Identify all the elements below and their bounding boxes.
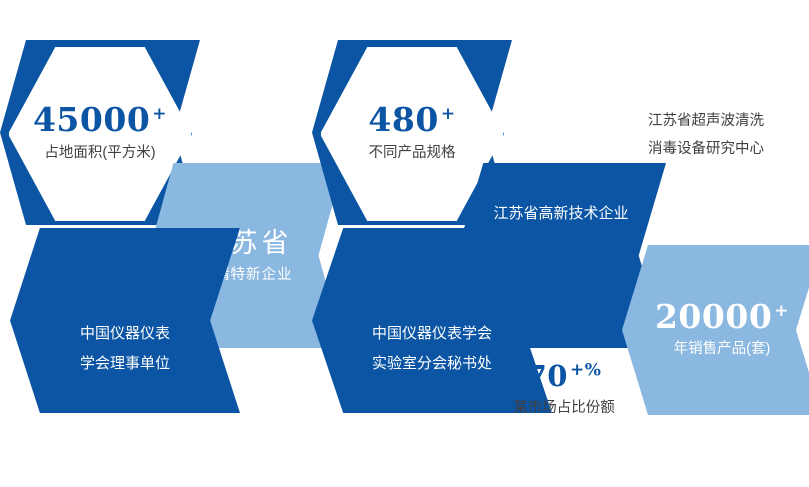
stat-value-annual-sales: 20000+ — [655, 300, 789, 333]
badge-lab-branch-line1: 中国仪器仪表学会 — [372, 319, 492, 349]
stat-caption-market-share: 某市场占比份额 — [494, 397, 634, 419]
stat-value-area: 45000+ — [33, 103, 167, 136]
badge-instrument-council[interactable]: 中国仪器仪表 学会理事单位 — [10, 228, 240, 413]
research-center-line2: 消毒设备研究中心 — [648, 136, 764, 164]
stat-card-annual-sales[interactable]: 20000+ 年销售产品(套) — [622, 245, 809, 415]
stat-unit-market-share: % — [585, 360, 602, 380]
stat-block-market-share: 70+% 某市场占比份额 — [494, 362, 634, 419]
stat-value-specs: 480+ — [368, 103, 455, 136]
stat-caption-specs: 不同产品规格 — [369, 142, 456, 164]
stat-suffix-specs: + — [441, 104, 456, 124]
badge-instrument-council-line1: 中国仪器仪表 — [80, 319, 170, 349]
badge-instrument-council-text: 中国仪器仪表 学会理事单位 — [80, 319, 170, 379]
stat-suffix-annual-sales: + — [774, 301, 789, 321]
stat-suffix-market-share: + — [570, 360, 585, 380]
stat-value-market-share: 70+% — [494, 362, 634, 391]
badge-lab-branch-text: 中国仪器仪表学会 实验室分会秘书处 — [372, 319, 492, 379]
stat-caption-area: 占地面积(平方米) — [44, 142, 155, 164]
badge-instrument-council-line2: 学会理事单位 — [80, 349, 170, 379]
badge-lab-branch-line2: 实验室分会秘书处 — [372, 349, 492, 379]
research-center-text: 江苏省超声波清洗 消毒设备研究中心 — [648, 108, 764, 163]
stat-caption-annual-sales: 年销售产品(套) — [674, 338, 771, 360]
badge-high-tech-label: 江苏省高新技术企业 — [493, 199, 628, 229]
research-center-line1: 江苏省超声波清洗 — [648, 108, 764, 136]
infographic-canvas: 45000+ 占地面积(平方米) 江苏省 专精特新企业 480+ 不同产品规格 … — [0, 0, 809, 487]
stat-suffix-area: + — [152, 104, 167, 124]
